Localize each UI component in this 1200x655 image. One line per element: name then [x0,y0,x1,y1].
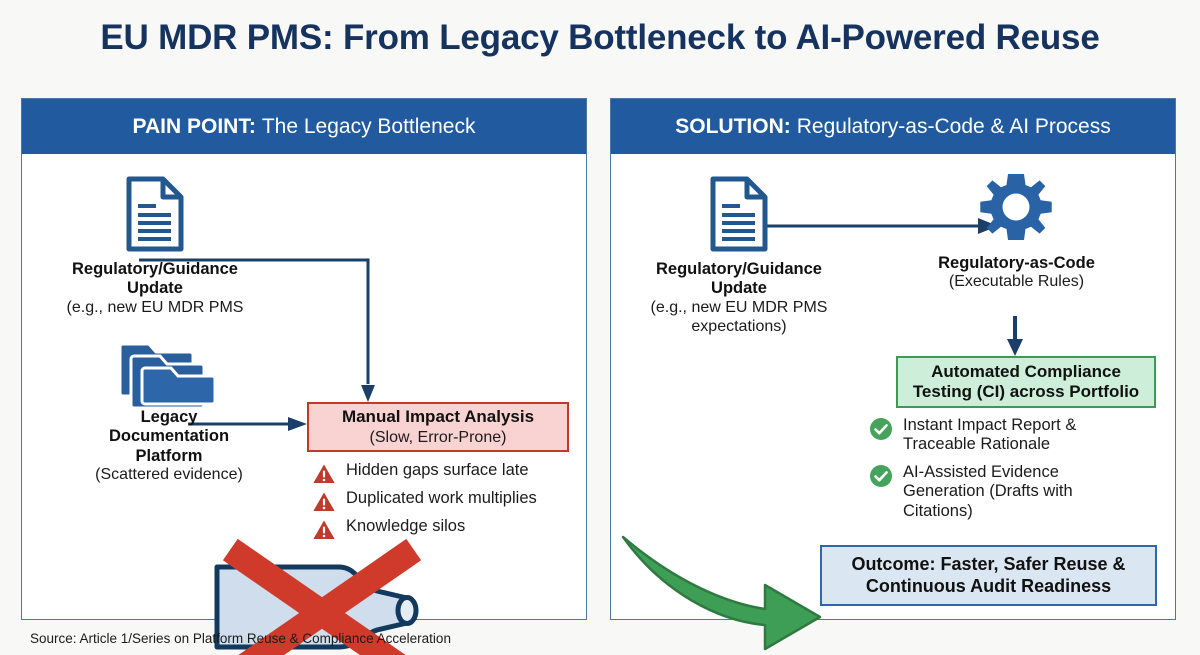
legacy-platform-line2: Documentation [44,427,294,446]
regulatory-update-line1: Regulatory/Guidance [30,260,280,279]
pain-bullet-text: Duplicated work multiplies [346,489,537,508]
warning-triangle-icon [312,462,336,486]
automated-compliance-box: Automated Compliance Testing (CI) across… [896,356,1156,408]
check-circle-icon [869,464,893,488]
regulatory-as-code-line2: (Executable Rules) [899,273,1134,292]
solution-bullet-line3: Citations) [903,502,973,520]
regulatory-as-code-label: Regulatory-as-Code (Executable Rules) [899,254,1134,292]
regulatory-update-line1: Regulatory/Guidance [614,260,864,279]
gear-icon [977,172,1055,250]
solution-bullet-line1: AI-Assisted Evidence [903,463,1059,481]
solution-panel-body: Regulatory/Guidance Update (e.g., new EU… [611,154,1175,621]
pain-bullet-text: Hidden gaps surface late [346,461,529,480]
warning-triangle-icon [312,490,336,514]
legacy-platform-line1: Legacy [44,408,294,427]
pain-point-header-lead: PAIN POINT: [133,115,256,139]
pain-point-bullet-list: Hidden gaps surface late Duplicated work… [312,461,582,545]
regulatory-update-line2: Update [30,279,280,298]
folder-stack-icon [117,334,222,408]
list-item: Instant Impact Report & Traceable Ration… [869,416,1159,454]
solution-bullet-text: Instant Impact Report & Traceable Ration… [903,416,1076,454]
legacy-platform-line4: (Scattered evidence) [44,466,294,485]
list-item: Knowledge silos [312,517,582,542]
regulatory-update-label-right: Regulatory/Guidance Update (e.g., new EU… [614,260,864,337]
solution-bullet-line1: Instant Impact Report & [903,416,1076,434]
regulatory-update-line3: (e.g., new EU MDR PMS [30,299,280,318]
solution-bullet-text: AI-Assisted Evidence Generation (Drafts … [903,463,1073,520]
pain-point-header-rest: The Legacy Bottleneck [262,115,476,139]
manual-impact-analysis-box: Manual Impact Analysis (Slow, Error-Pron… [307,402,569,452]
warning-triangle-icon [312,518,336,542]
curved-green-arrow-icon [615,529,830,634]
list-item: AI-Assisted Evidence Generation (Drafts … [869,463,1159,520]
regulatory-update-line4: expectations) [614,318,864,337]
solution-panel: SOLUTION: Regulatory-as-Code & AI Proces… [610,98,1176,620]
document-icon [709,176,769,252]
regulatory-update-line2: Update [614,279,864,298]
automated-compliance-line2: Testing (CI) across Portfolio [913,382,1139,402]
regulatory-update-label-left: Regulatory/Guidance Update (e.g., new EU… [30,260,280,318]
solution-header-lead: SOLUTION: [675,115,791,139]
outcome-line2: Continuous Audit Readiness [866,576,1111,598]
check-circle-icon [869,417,893,441]
pain-bullet-text: Knowledge silos [346,517,465,536]
regulatory-as-code-line1: Regulatory-as-Code [899,254,1134,273]
document-icon [125,176,185,252]
manual-impact-line2: (Slow, Error-Prone) [370,428,507,447]
solution-bullet-line2: Traceable Rationale [903,435,1050,453]
legacy-platform-line3: Platform [44,447,294,466]
pain-point-panel: PAIN POINT: The Legacy Bottleneck [21,98,587,620]
pain-point-panel-header: PAIN POINT: The Legacy Bottleneck [22,99,586,154]
list-item: Duplicated work multiplies [312,489,582,514]
page-title: EU MDR PMS: From Legacy Bottleneck to AI… [0,18,1200,58]
source-note: Source: Article 1/Series on Platform Reu… [30,631,451,646]
automated-compliance-line1: Automated Compliance [931,362,1121,382]
pain-point-panel-body: Regulatory/Guidance Update (e.g., new EU… [22,154,586,621]
legacy-platform-label: Legacy Documentation Platform (Scattered… [44,408,294,485]
solution-panel-header: SOLUTION: Regulatory-as-Code & AI Proces… [611,99,1175,154]
regulatory-update-line3: (e.g., new EU MDR PMS [614,299,864,318]
infographic-page: EU MDR PMS: From Legacy Bottleneck to AI… [0,0,1200,655]
solution-bullet-list: Instant Impact Report & Traceable Ration… [869,416,1159,530]
manual-impact-line1: Manual Impact Analysis [342,407,534,427]
list-item: Hidden gaps surface late [312,461,582,486]
solution-header-rest: Regulatory-as-Code & AI Process [797,115,1111,139]
outcome-box: Outcome: Faster, Safer Reuse & Continuou… [820,545,1157,606]
solution-bullet-line2: Generation (Drafts with [903,482,1073,500]
outcome-line1: Outcome: Faster, Safer Reuse & [851,554,1125,576]
